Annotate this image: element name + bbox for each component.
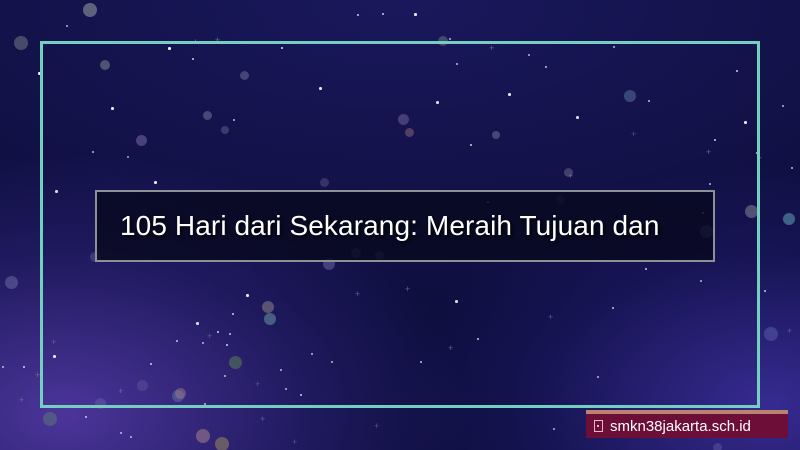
star-dot bbox=[23, 366, 25, 368]
sparkle-cross: + bbox=[260, 415, 265, 424]
sparkle-cross: + bbox=[19, 396, 24, 405]
bokeh-circle bbox=[5, 276, 18, 289]
page-title: 105 Hari dari Sekarang: Meraih Tujuan da… bbox=[97, 210, 660, 242]
star-dot bbox=[120, 432, 122, 434]
bokeh-circle bbox=[713, 443, 722, 450]
star-dot bbox=[449, 38, 451, 40]
title-panel: 105 Hari dari Sekarang: Meraih Tujuan da… bbox=[95, 190, 715, 262]
star-dot bbox=[782, 105, 784, 107]
domain-label: smkn38jakarta.sch.id bbox=[610, 418, 751, 435]
star-dot bbox=[130, 436, 132, 438]
star-dot bbox=[764, 290, 766, 292]
domain-badge[interactable]: smkn38jakarta.sch.id bbox=[586, 410, 788, 438]
star-dot bbox=[357, 14, 359, 16]
bokeh-circle bbox=[764, 327, 778, 341]
bokeh-circle bbox=[783, 213, 795, 225]
bokeh-circle bbox=[215, 437, 229, 450]
star-dot bbox=[382, 13, 384, 15]
star-dot bbox=[66, 25, 68, 27]
bokeh-circle bbox=[83, 3, 97, 17]
sparkle-cross: + bbox=[374, 422, 379, 431]
star-dot bbox=[2, 366, 4, 368]
star-dot bbox=[553, 428, 555, 430]
bokeh-circle bbox=[196, 429, 210, 443]
bokeh-circle bbox=[43, 412, 57, 426]
page-icon bbox=[594, 420, 603, 432]
sparkle-cross: + bbox=[292, 438, 297, 447]
bokeh-circle bbox=[14, 36, 28, 50]
share-card: +++++++++++++++++++++ 105 Hari dari Seka… bbox=[0, 0, 800, 450]
star-dot bbox=[791, 167, 793, 169]
sparkle-cross: + bbox=[787, 327, 792, 336]
star-dot bbox=[414, 13, 417, 16]
star-dot bbox=[85, 416, 87, 418]
